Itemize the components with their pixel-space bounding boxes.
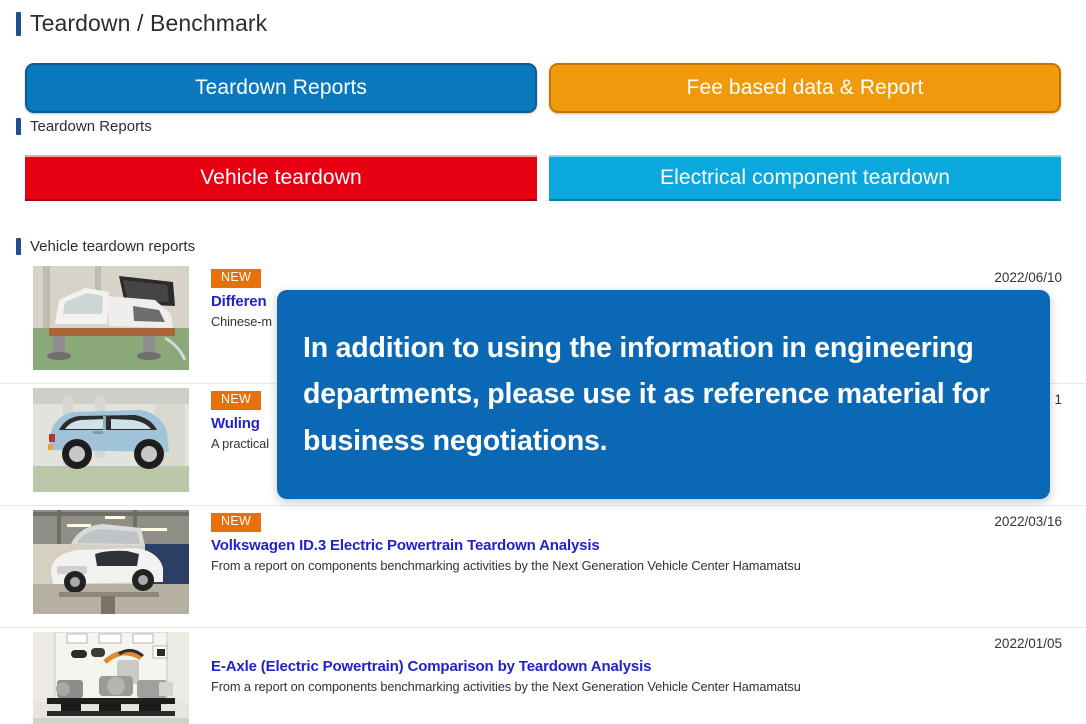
report-date: 1	[1054, 392, 1062, 407]
heading-accent-bar	[16, 118, 21, 135]
white-car-teardown-icon	[33, 266, 189, 370]
list-item[interactable]: E-Axle (Electric Powertrain) Comparison …	[0, 628, 1086, 724]
report-title[interactable]: Volkswagen ID.3 Electric Powertrain Tear…	[211, 537, 1086, 554]
report-date: 2022/01/05	[994, 636, 1062, 651]
tab-teardown-reports[interactable]: Teardown Reports	[25, 63, 537, 113]
vw-id3-on-lift-icon	[33, 510, 189, 614]
page-title-label: Teardown / Benchmark	[30, 10, 267, 37]
tab-teardown-reports-label: Teardown Reports	[195, 76, 367, 100]
section-heading-vehicle-teardown-reports-label: Vehicle teardown reports	[30, 238, 195, 255]
report-thumbnail[interactable]	[33, 388, 189, 492]
callout-text: In addition to using the information in …	[303, 325, 1024, 464]
status-badge: NEW	[211, 269, 261, 288]
report-date: 2022/03/16	[994, 514, 1062, 529]
report-description: From a report on components benchmarking…	[211, 679, 1086, 694]
report-date: 2022/06/10	[994, 270, 1062, 285]
report-info: E-Axle (Electric Powertrain) Comparison …	[189, 628, 1086, 694]
section-heading-teardown-reports-label: Teardown Reports	[30, 118, 152, 135]
page-title: Teardown / Benchmark	[16, 10, 267, 37]
tab-vehicle-teardown[interactable]: Vehicle teardown	[25, 155, 537, 201]
report-thumbnail[interactable]	[33, 510, 189, 614]
tab-fee-based-data-report[interactable]: Fee based data & Report	[549, 63, 1061, 113]
e-axle-display-bench-icon	[33, 632, 189, 724]
heading-accent-bar	[16, 238, 21, 255]
mini-ev-side-view-icon	[33, 388, 189, 492]
report-thumbnail[interactable]	[33, 632, 189, 724]
tab-electrical-component-teardown[interactable]: Electrical component teardown	[549, 155, 1061, 201]
section-heading-teardown-reports: Teardown Reports	[16, 118, 152, 135]
report-info: NEW Volkswagen ID.3 Electric Powertrain …	[189, 506, 1086, 573]
list-item[interactable]: NEW Volkswagen ID.3 Electric Powertrain …	[0, 506, 1086, 628]
status-badge: NEW	[211, 513, 261, 532]
status-badge: NEW	[211, 391, 261, 410]
heading-accent-bar	[16, 12, 21, 36]
report-thumbnail[interactable]	[33, 266, 189, 370]
page-root: Teardown / Benchmark Teardown Reports Fe…	[0, 0, 1086, 724]
report-description: From a report on components benchmarking…	[211, 558, 1086, 573]
tab-vehicle-teardown-label: Vehicle teardown	[200, 166, 362, 190]
callout-overlay: In addition to using the information in …	[277, 290, 1050, 499]
tab-fee-based-data-report-label: Fee based data & Report	[687, 76, 924, 100]
report-title[interactable]: E-Axle (Electric Powertrain) Comparison …	[211, 658, 1086, 675]
section-heading-vehicle-teardown-reports: Vehicle teardown reports	[16, 238, 195, 255]
tab-electrical-component-teardown-label: Electrical component teardown	[660, 166, 950, 190]
